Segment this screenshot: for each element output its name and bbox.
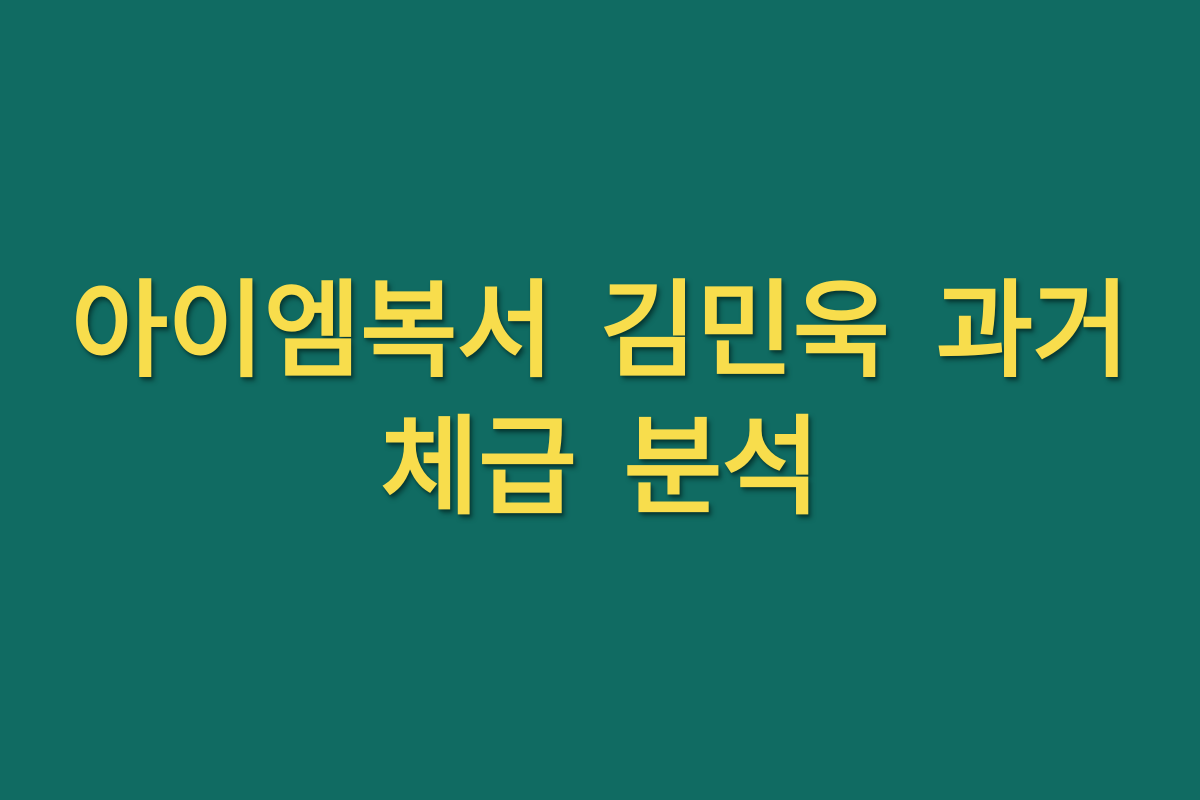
title-card: 아이엠복서 김민욱 과거 체급 분석 — [0, 0, 1200, 800]
page-title-line-2: 체급 분석 — [40, 399, 1160, 538]
page-title: 아이엠복서 김민욱 과거 체급 분석 — [0, 262, 1200, 538]
page-title-line-1: 아이엠복서 김민욱 과거 — [40, 262, 1160, 399]
